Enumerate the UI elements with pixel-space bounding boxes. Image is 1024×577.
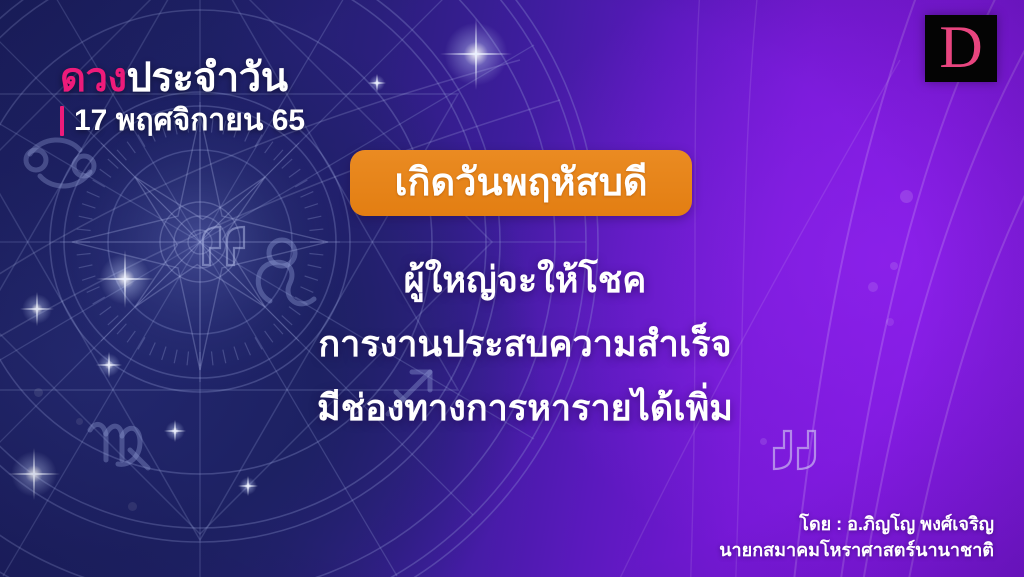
brand-logo[interactable]: D	[925, 15, 997, 82]
horoscope-card: ดวงประจำวัน 17 พฤศจิกายน 65 D เกิดวันพฤห…	[0, 0, 1024, 577]
date-text: 17 พฤศจิกายน 65	[74, 104, 305, 138]
logo-letter-d: D	[939, 17, 982, 77]
credit-role: นายกสมาคมโหราศาสตร์นานาชาติ	[719, 537, 994, 563]
day-badge: เกิดวันพฤหัสบดี	[350, 150, 692, 216]
credit-block: โดย : อ.ภิญโญ พงศ์เจริญ นายกสมาคมโหราศาส…	[719, 511, 994, 563]
forecast-line: มีช่องทางการหารายได้เพิ่ม	[290, 376, 760, 440]
forecast-lines: ผู้ใหญ่จะให้โชค การงานประสบความสำเร็จ มี…	[290, 248, 760, 440]
header: ดวงประจำวัน 17 พฤศจิกายน 65	[60, 54, 305, 138]
credit-author: โดย : อ.ภิญโญ พงศ์เจริญ	[719, 511, 994, 537]
forecast-line: ผู้ใหญ่จะให้โชค	[290, 248, 760, 312]
forecast-line: การงานประสบความสำเร็จ	[290, 312, 760, 376]
dateline: 17 พฤศจิกายน 65	[60, 104, 305, 138]
day-badge-label: เกิดวันพฤหัสบดี	[394, 161, 647, 205]
date-accent-bar	[60, 106, 64, 136]
page-title-rest: ประจำวัน	[126, 56, 287, 100]
page-title: ดวงประจำวัน	[60, 54, 305, 102]
page-title-highlight: ดวง	[60, 56, 126, 100]
